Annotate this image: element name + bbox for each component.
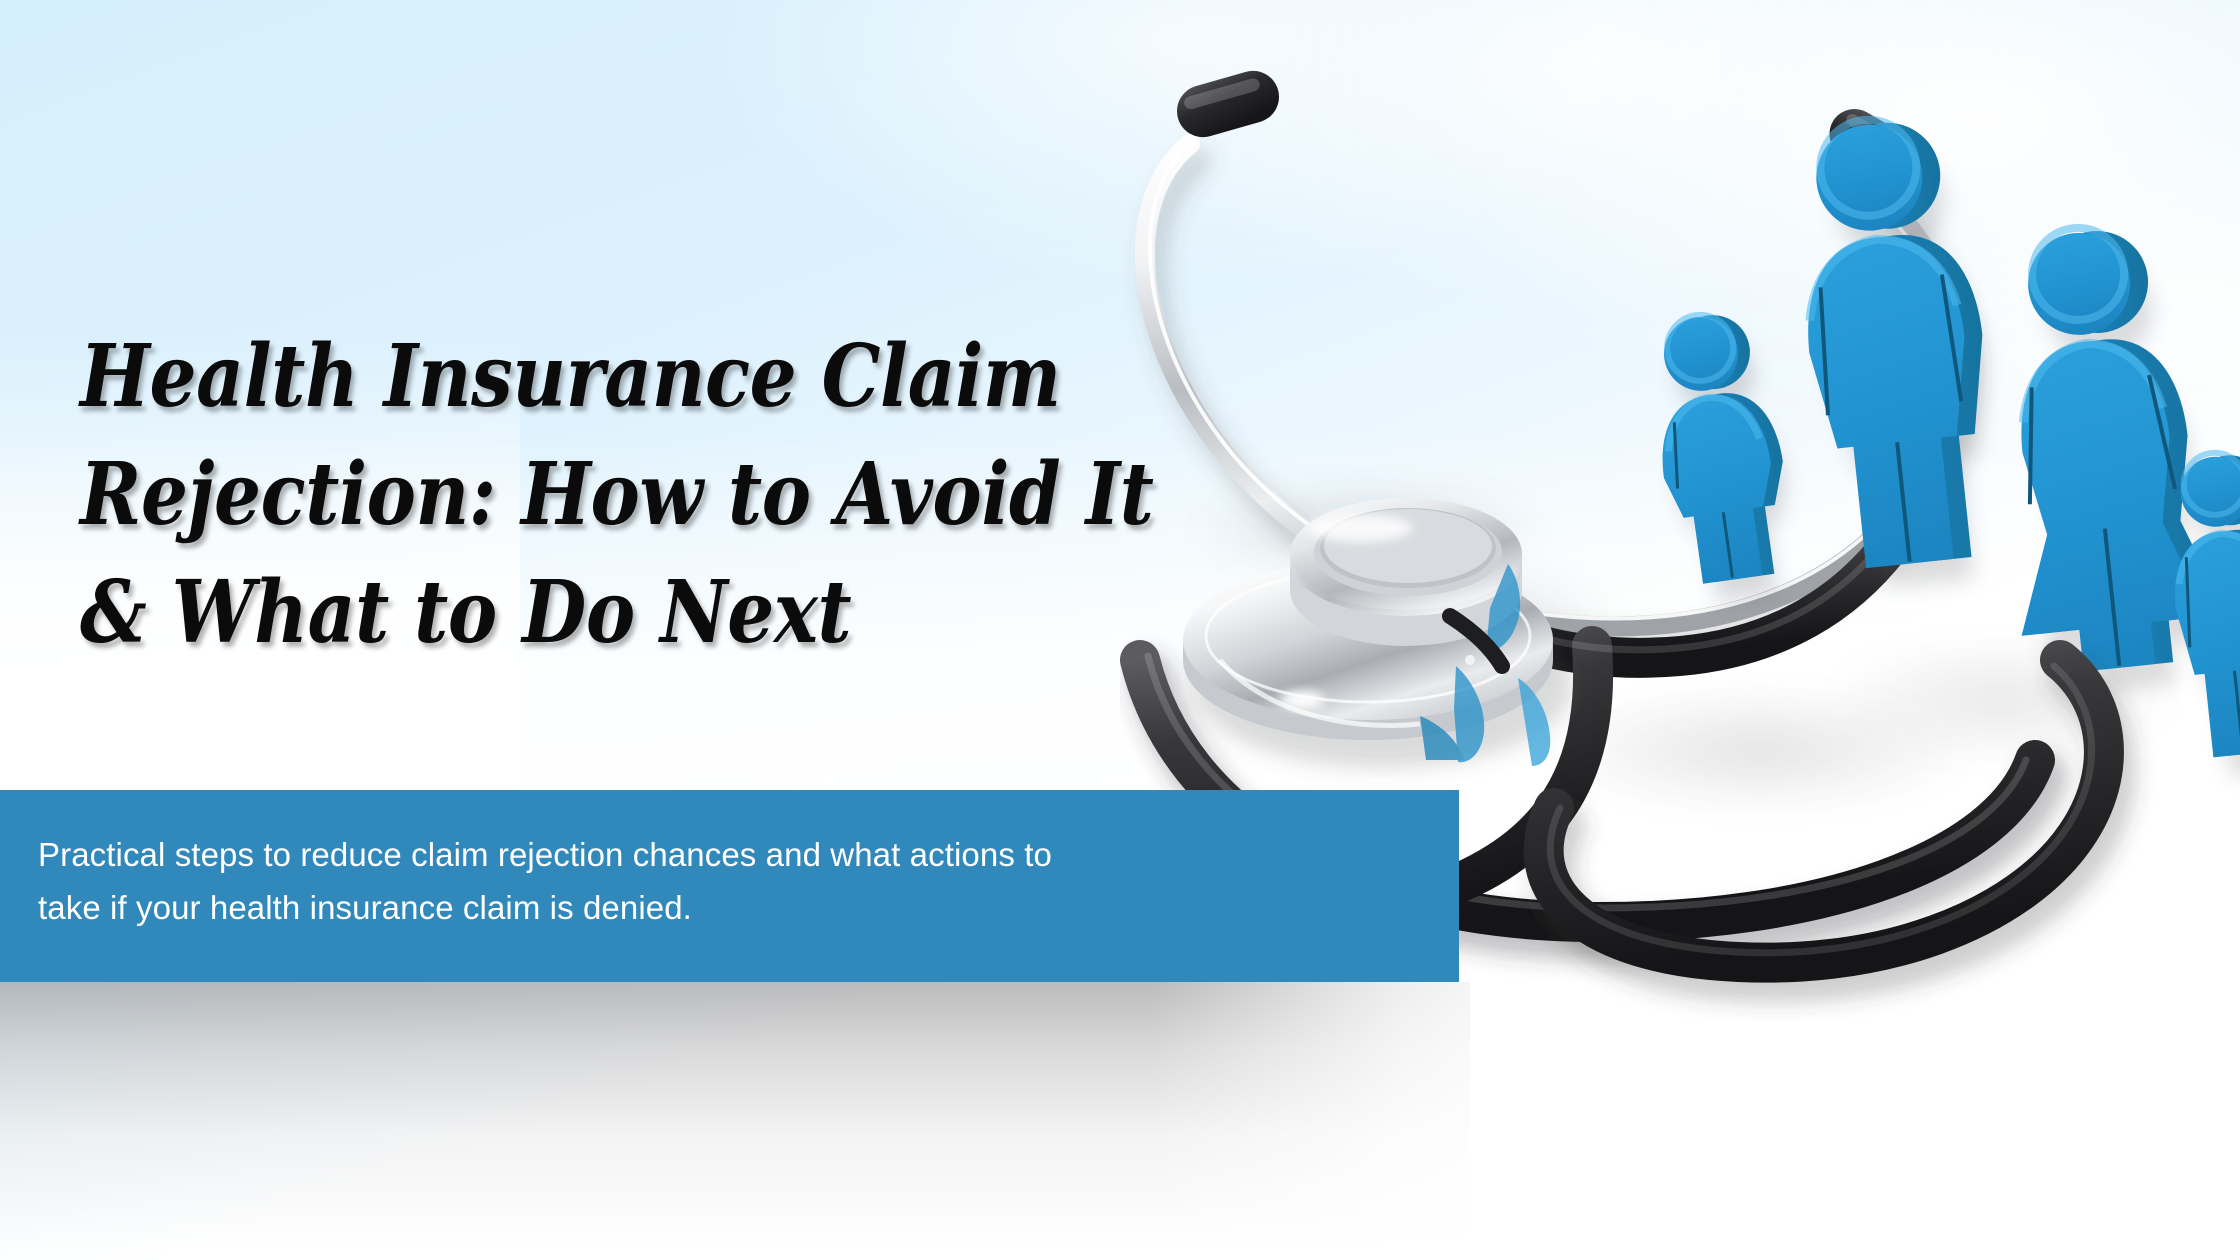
page-title: Health Insurance Claim Rejection: How to… (80, 318, 1095, 672)
banner-root: Health Insurance Claim Rejection: How to… (0, 0, 2240, 1260)
subtitle-line-2: take if your health insurance claim is d… (38, 881, 1399, 934)
subtitle-banner: Practical steps to reduce claim rejectio… (0, 790, 1459, 982)
subtitle-line-1: Practical steps to reduce claim rejectio… (38, 828, 1399, 881)
subtitle-text: Practical steps to reduce claim rejectio… (38, 828, 1399, 934)
page-title-line-3: & What to Do Next (80, 554, 1095, 672)
page-title-line-1: Health Insurance Claim (80, 318, 1095, 436)
page-title-line-2: Rejection: How to Avoid It (80, 436, 1095, 554)
banner-drop-shadow-fade (1150, 982, 1570, 1260)
